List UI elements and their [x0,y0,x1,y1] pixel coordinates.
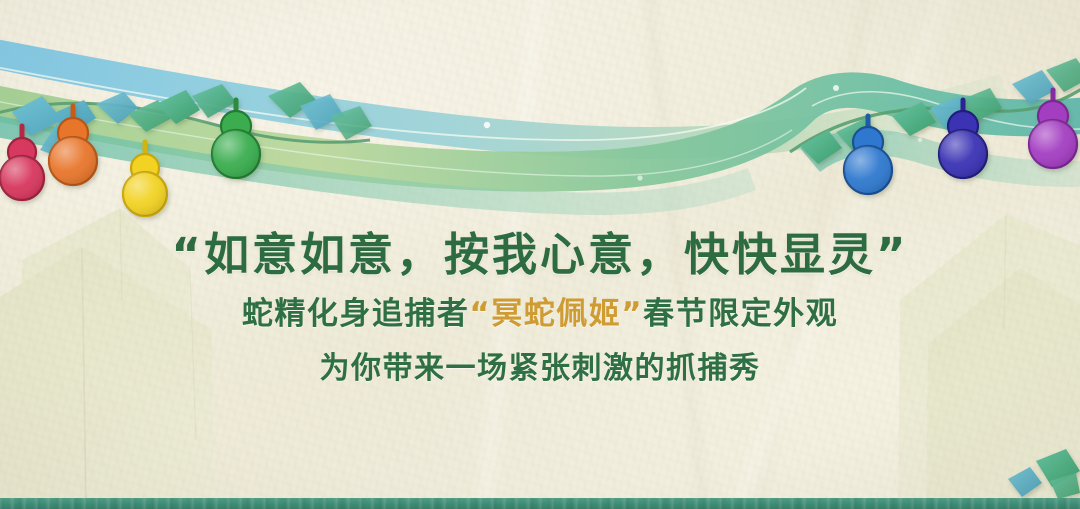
promo-banner: “如意如意，按我心意，快快显灵” 蛇精化身追捕者“冥蛇佩姬”春节限定外观 为你带… [0,0,1080,509]
corner-leaf-cluster [950,433,1080,503]
gourd-purple [1029,90,1077,168]
flowing-ribbon-banner [0,0,1080,230]
promo-tagline: 为你带来一场紧张刺激的抓捕秀 [0,354,1080,384]
gourd-yellow [123,142,167,216]
skin-name-highlight: “冥蛇佩姬” [469,296,643,332]
gourd-garland [0,0,1080,230]
promo-subline: 蛇精化身追捕者“冥蛇佩姬”春节限定外观 [0,299,1080,330]
subline-prefix: 蛇精化身追捕者 [242,296,470,332]
gourd-green [212,100,260,178]
gourd-indigo [939,100,987,178]
bottom-teal-strip [0,498,1080,509]
gourd-red [0,126,44,200]
gourd-blue [844,116,892,194]
promo-copy-block: “如意如意，按我心意，快快显灵” 蛇精化身追捕者“冥蛇佩姬”春节限定外观 为你带… [0,232,1080,384]
subline-suffix: 春节限定外观 [643,296,838,332]
promo-headline: “如意如意，按我心意，快快显灵” [0,232,1080,277]
gourd-orange [49,106,97,185]
